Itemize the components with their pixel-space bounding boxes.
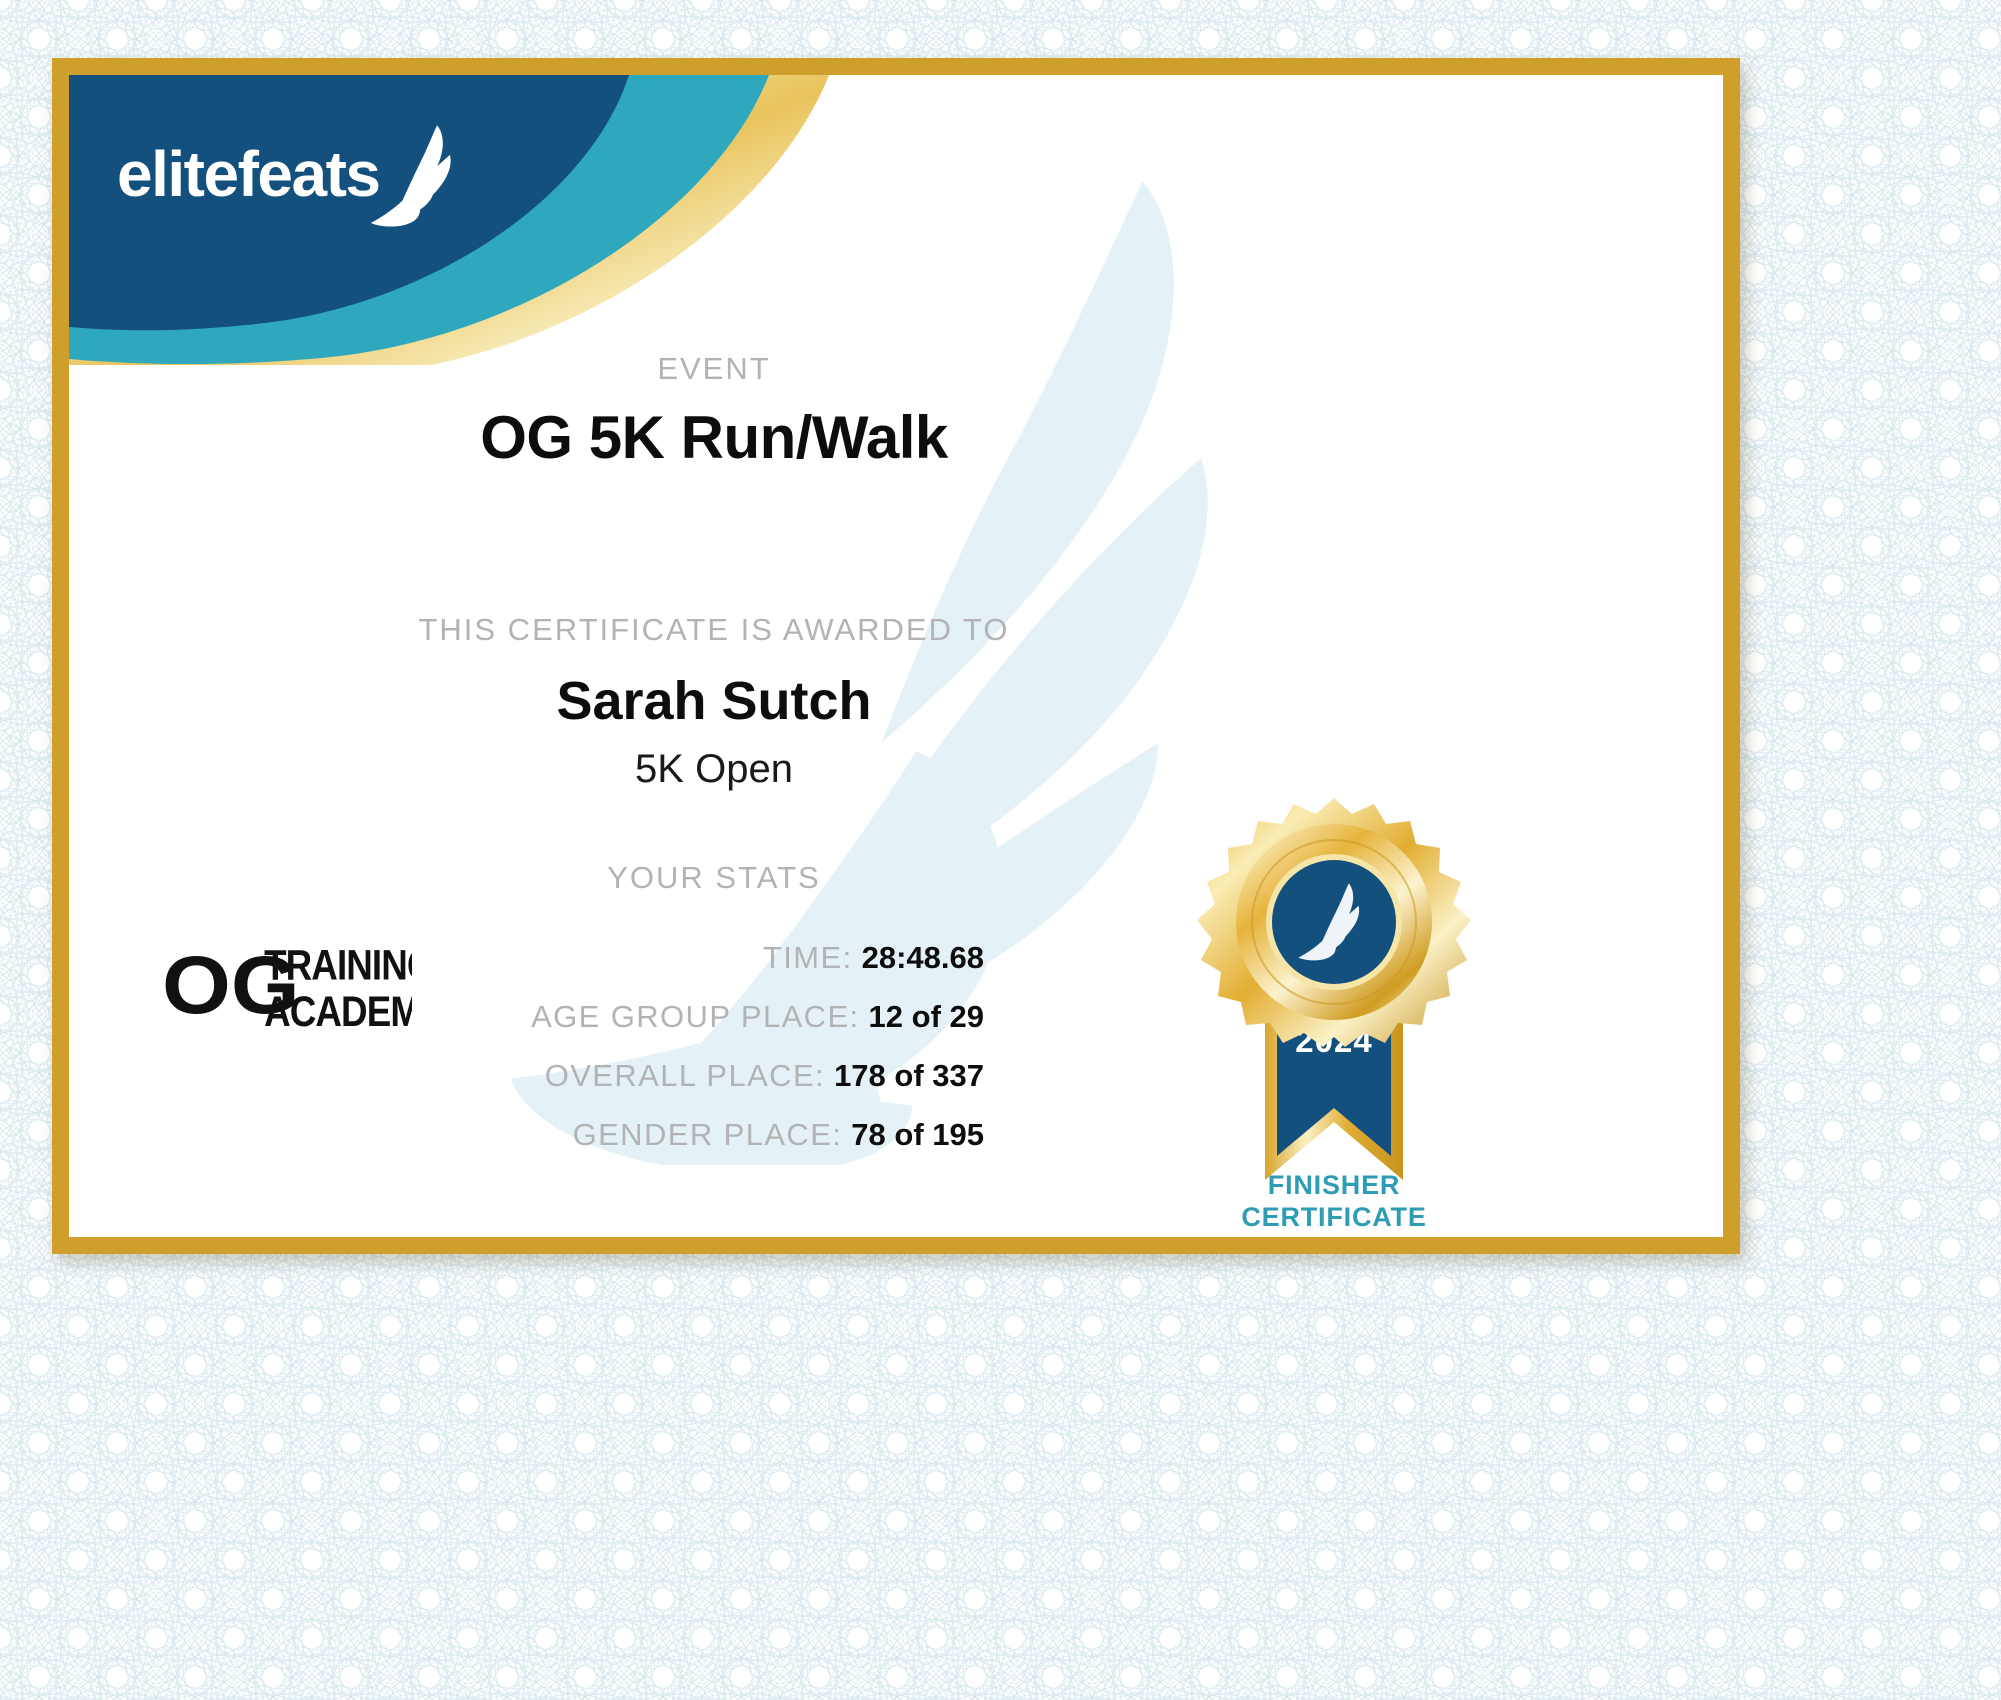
- medal-caption-line1: FINISHER: [1164, 1170, 1504, 1202]
- certificate-gold-frame: elitefeats EVENT OG 5K Run/Walk THIS CER…: [52, 58, 1740, 1254]
- certificate-card: elitefeats EVENT OG 5K Run/Walk THIS CER…: [69, 75, 1723, 1237]
- stat-row: GENDER PLACE:78 of 195: [69, 1117, 1359, 1153]
- event-label: EVENT: [69, 351, 1359, 387]
- stat-key: OVERALL PLACE:: [545, 1058, 825, 1093]
- recipient-name: Sarah Sutch: [69, 670, 1359, 732]
- awarded-to-label: THIS CERTIFICATE IS AWARDED TO: [69, 612, 1359, 648]
- stats-label: YOUR STATS: [69, 860, 1359, 896]
- stat-value: 12 of 29: [869, 999, 984, 1034]
- og-training-academy-logo: OG TRAINING ACADEMY: [162, 937, 412, 1032]
- stat-key: GENDER PLACE:: [573, 1117, 843, 1152]
- stat-value: 178 of 337: [834, 1058, 984, 1093]
- og-logo-line1: TRAINING: [264, 942, 412, 989]
- stat-key: TIME:: [763, 940, 853, 975]
- finisher-medal-badge: 2024: [1189, 790, 1479, 1190]
- division-name: 5K Open: [69, 747, 1359, 792]
- stat-value: 28:48.68: [862, 940, 984, 975]
- medal-caption-line2: CERTIFICATE: [1164, 1202, 1504, 1234]
- event-title: OG 5K Run/Walk: [69, 403, 1359, 472]
- stat-key: AGE GROUP PLACE:: [531, 999, 859, 1034]
- certificate-page: elitefeats EVENT OG 5K Run/Walk THIS CER…: [0, 0, 2001, 1700]
- certificate-content: EVENT OG 5K Run/Walk THIS CERTIFICATE IS…: [69, 75, 1723, 1237]
- stat-value: 78 of 195: [851, 1117, 984, 1152]
- medal-caption: FINISHER CERTIFICATE: [1164, 1170, 1504, 1234]
- medal-starburst: [1197, 798, 1471, 1047]
- og-logo-line2: ACADEMY: [264, 989, 412, 1032]
- stat-row: OVERALL PLACE:178 of 337: [69, 1058, 1359, 1094]
